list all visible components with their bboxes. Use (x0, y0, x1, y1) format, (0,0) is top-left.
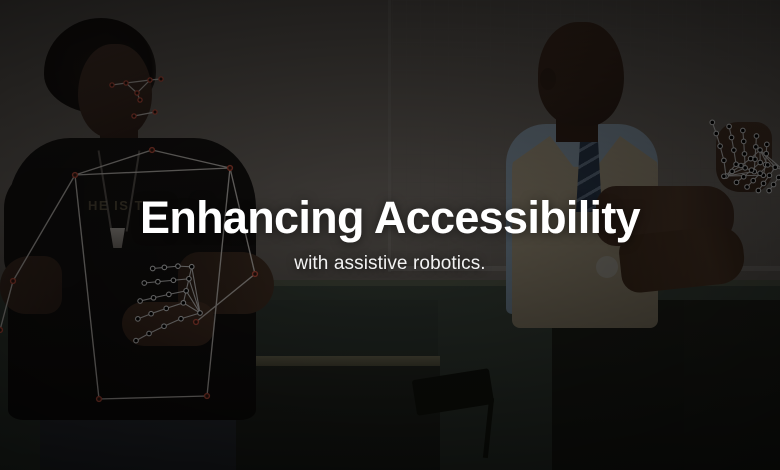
video-frame: HE IS T Enhancing Accessibility with ass… (0, 0, 780, 470)
caption-block: Enhancing Accessibility with assistive r… (0, 0, 780, 470)
page-subtitle: with assistive robotics. (294, 253, 485, 275)
page-title: Enhancing Accessibility (140, 195, 640, 241)
